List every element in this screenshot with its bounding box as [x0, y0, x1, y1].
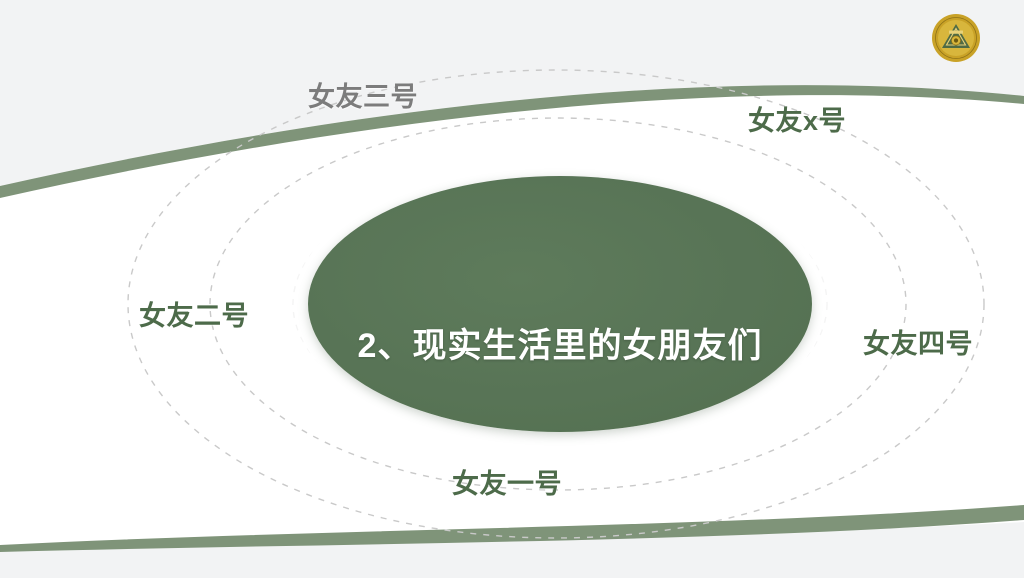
circular-seal-logo-icon [930, 12, 982, 64]
orbit-label-girlfriend-1: 女友一号 [452, 471, 562, 498]
center-ellipse: 2、现实生活里的女朋友们 [308, 176, 812, 432]
orbit-label-girlfriend-3: 女友三号 [308, 84, 418, 111]
orbit-label-girlfriend-4: 女友四号 [863, 331, 973, 358]
page-title: 2、现实生活里的女朋友们 [358, 329, 763, 363]
seal-center-dot [954, 38, 958, 42]
center-node: 2、现实生活里的女朋友们 [308, 176, 812, 432]
orbit-label-girlfriend-2: 女友二号 [139, 303, 249, 330]
orbit-label-girlfriend-x: 女友x号 [748, 108, 846, 135]
seal-banner [949, 31, 963, 34]
slide-canvas: 2、现实生活里的女朋友们 女友三号 女友x号 女友二号 女友四号 女友一号 [0, 0, 1024, 578]
